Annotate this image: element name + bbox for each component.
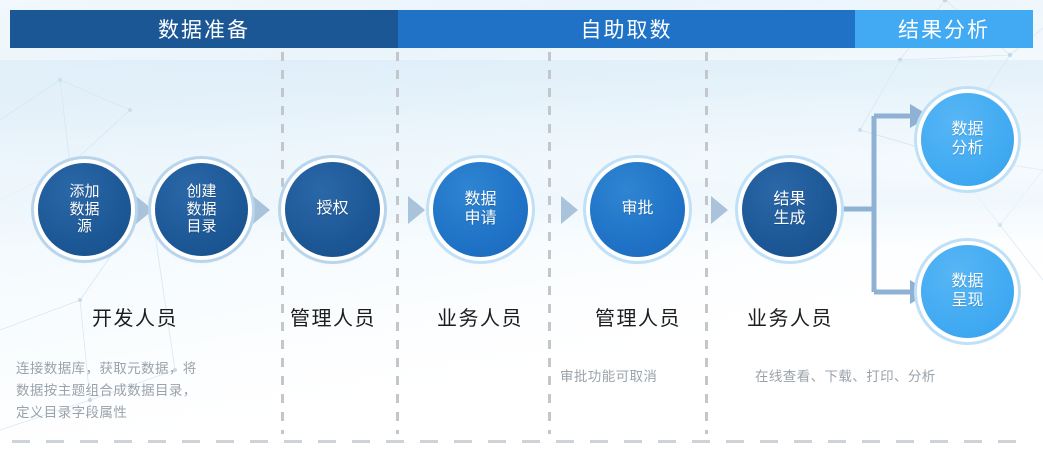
bottom-dashed-rule	[12, 440, 1031, 443]
node-label: 数据 申请	[464, 191, 496, 229]
step-arrow-2	[253, 196, 270, 224]
flow-diagram: 数据准备 自助取数 结果分析 添加 数据 源 创建 数据 目录	[0, 0, 1043, 456]
lane-divider-1	[281, 52, 284, 434]
role-label-administrator-1: 管理人员	[285, 302, 381, 331]
description-approval: 审批功能可取消	[560, 366, 695, 388]
role-text: 业务人员	[747, 308, 833, 330]
node-data-request[interactable]: 数据 申请	[433, 162, 528, 257]
lane-divider-3	[548, 52, 551, 434]
role-text: 管理人员	[595, 308, 681, 330]
node-label: 添加 数据 源	[69, 183, 99, 236]
description-data-preparation: 连接数据库，获取元数据，将 数据按主题组合成数据目录， 定义目录字段属性	[16, 358, 271, 424]
role-label-developer: 开发人员	[0, 302, 270, 331]
step-arrow-3	[408, 196, 425, 224]
phase-header-self-service-query: 自助取数	[398, 10, 855, 48]
node-label: 结果 生成	[773, 191, 805, 229]
node-label: 创建 数据 目录	[186, 183, 216, 236]
node-create-data-catalog[interactable]: 创建 数据 目录	[155, 163, 248, 256]
node-authorization[interactable]: 授权	[285, 162, 380, 257]
role-label-business-user-2: 业务人员	[730, 302, 850, 331]
role-label-administrator-2: 管理人员	[578, 302, 698, 331]
role-label-business-user-1: 业务人员	[420, 302, 540, 331]
node-label: 数据 呈现	[951, 273, 983, 311]
node-add-data-source[interactable]: 添加 数据 源	[38, 163, 131, 256]
role-text: 业务人员	[437, 308, 523, 330]
lane-divider-2	[396, 52, 399, 434]
node-label: 数据 分析	[951, 121, 983, 159]
lane-divider-4	[705, 52, 708, 434]
role-text: 开发人员	[92, 308, 178, 330]
description-result-analysis: 在线查看、下载、打印、分析	[755, 366, 1000, 388]
node-approval[interactable]: 审批	[590, 162, 685, 257]
role-text: 管理人员	[290, 308, 376, 330]
node-data-presentation[interactable]: 数据 呈现	[921, 245, 1014, 338]
step-arrow-1	[136, 196, 153, 224]
node-result-generation[interactable]: 结果 生成	[742, 162, 837, 257]
step-arrow-5	[711, 196, 728, 224]
step-arrow-4	[561, 196, 578, 224]
phase-header-data-preparation: 数据准备	[10, 10, 398, 48]
background-band-upper	[0, 60, 1043, 180]
phase-header-label: 结果分析	[898, 14, 990, 44]
phase-header-label: 自助取数	[581, 14, 673, 44]
phase-header-result-analysis: 结果分析	[855, 10, 1033, 48]
node-label: 审批	[621, 200, 653, 219]
node-data-analysis[interactable]: 数据 分析	[921, 93, 1014, 186]
phase-header-label: 数据准备	[158, 14, 250, 44]
phase-header-row: 数据准备 自助取数 结果分析	[10, 10, 1033, 48]
node-label: 授权	[316, 200, 348, 219]
